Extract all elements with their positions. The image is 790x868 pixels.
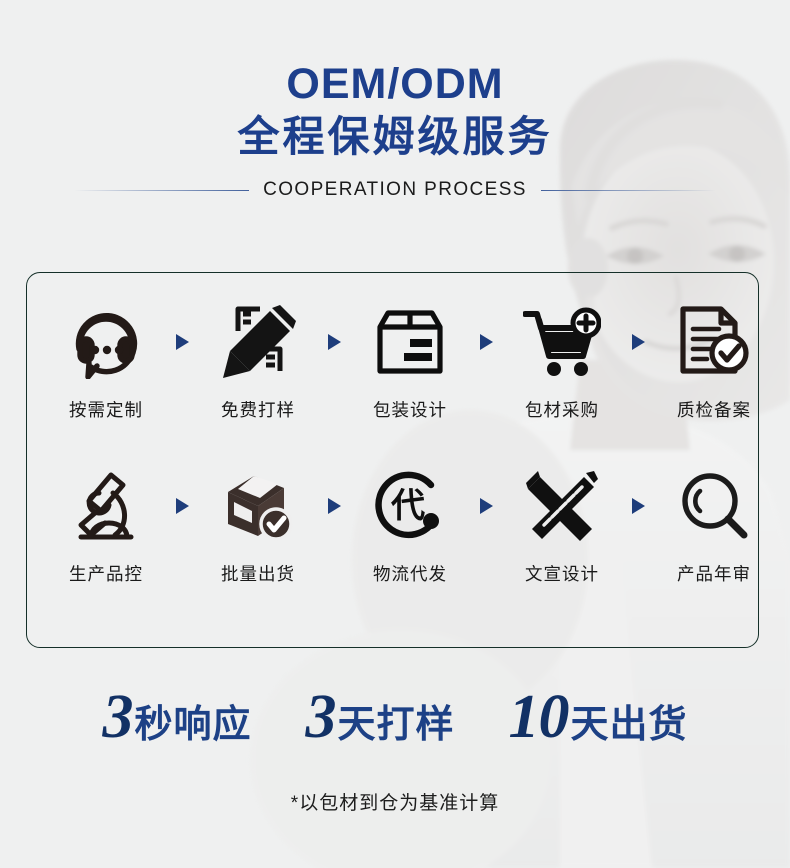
svg-text:代: 代 bbox=[390, 487, 425, 525]
arrow-right-icon bbox=[169, 463, 195, 549]
process-step-custom[interactable]: 按需定制 bbox=[43, 299, 169, 422]
process-step-production-qc[interactable]: 生产品控 bbox=[43, 463, 169, 586]
footnote-text: *以包材到仓为基准计算 bbox=[0, 788, 790, 815]
headset-chat-icon bbox=[63, 299, 149, 385]
page-subtitle: COOPERATION PROCESS bbox=[263, 179, 527, 201]
stat-text: 天打样 bbox=[337, 706, 454, 744]
page-title-en: OEM/ODM bbox=[0, 62, 790, 107]
stat-number: 3 bbox=[305, 686, 335, 748]
process-row-2: 生产品控 批量出货 代 bbox=[27, 463, 758, 613]
stat-response-time: 3 秒响应 bbox=[102, 686, 251, 748]
process-step-label: 物流代发 bbox=[373, 561, 447, 586]
process-step-bulk-shipment[interactable]: 批量出货 bbox=[195, 463, 321, 586]
arrow-right-icon bbox=[625, 463, 651, 549]
cooperation-process-card: 按需定制 免费打样 bbox=[26, 272, 759, 648]
pen-ruler-cross-icon bbox=[519, 463, 605, 549]
process-step-dropshipping[interactable]: 代 物流代发 bbox=[347, 463, 473, 586]
stat-shipping-time: 10 天出货 bbox=[509, 686, 688, 748]
arrow-right-icon bbox=[321, 299, 347, 385]
page-title-cn: 全程保姆级服务 bbox=[0, 113, 790, 161]
dropship-dai-icon: 代 bbox=[367, 463, 453, 549]
process-step-label: 包装设计 bbox=[373, 397, 447, 422]
microscope-icon bbox=[63, 463, 149, 549]
process-step-free-sample[interactable]: 免费打样 bbox=[195, 299, 321, 422]
process-step-label: 免费打样 bbox=[221, 397, 295, 422]
process-step-label: 文宣设计 bbox=[525, 561, 599, 586]
document-check-icon bbox=[671, 299, 757, 385]
box-check-icon bbox=[215, 463, 301, 549]
process-step-label: 质检备案 bbox=[677, 397, 751, 422]
process-step-label: 按需定制 bbox=[69, 397, 143, 422]
process-step-annual-review[interactable]: 产品年审 bbox=[651, 463, 777, 586]
process-step-quality-filing[interactable]: 质检备案 bbox=[651, 299, 777, 422]
stat-text: 秒响应 bbox=[134, 706, 251, 744]
magnifier-icon bbox=[671, 463, 757, 549]
shopping-cart-plus-icon bbox=[519, 299, 605, 385]
process-step-material-purchase[interactable]: 包材采购 bbox=[499, 299, 625, 422]
arrow-right-icon bbox=[169, 299, 195, 385]
subtitle-row: COOPERATION PROCESS bbox=[0, 179, 790, 201]
arrow-right-icon bbox=[473, 463, 499, 549]
process-step-marketing-design[interactable]: 文宣设计 bbox=[499, 463, 625, 586]
arrow-right-icon bbox=[321, 463, 347, 549]
process-row-1: 按需定制 免费打样 bbox=[27, 299, 758, 449]
process-step-label: 包材采购 bbox=[525, 397, 599, 422]
arrow-right-icon bbox=[625, 299, 651, 385]
arrow-right-icon bbox=[473, 299, 499, 385]
process-step-package-design[interactable]: 包装设计 bbox=[347, 299, 473, 422]
header: OEM/ODM 全程保姆级服务 COOPERATION PROCESS bbox=[0, 0, 790, 201]
process-step-label: 批量出货 bbox=[221, 561, 295, 586]
divider-line-right bbox=[541, 190, 716, 191]
process-step-label: 产品年审 bbox=[677, 561, 751, 586]
stat-number: 10 bbox=[509, 686, 569, 748]
process-step-label: 生产品控 bbox=[69, 561, 143, 586]
divider-line-left bbox=[74, 190, 249, 191]
pencil-ruler-icon bbox=[215, 299, 301, 385]
stat-text: 天出货 bbox=[571, 706, 688, 744]
package-box-icon bbox=[367, 299, 453, 385]
stat-sampling-time: 3 天打样 bbox=[305, 686, 454, 748]
stats-row: 3 秒响应 3 天打样 10 天出货 bbox=[0, 686, 790, 748]
stat-number: 3 bbox=[102, 686, 132, 748]
